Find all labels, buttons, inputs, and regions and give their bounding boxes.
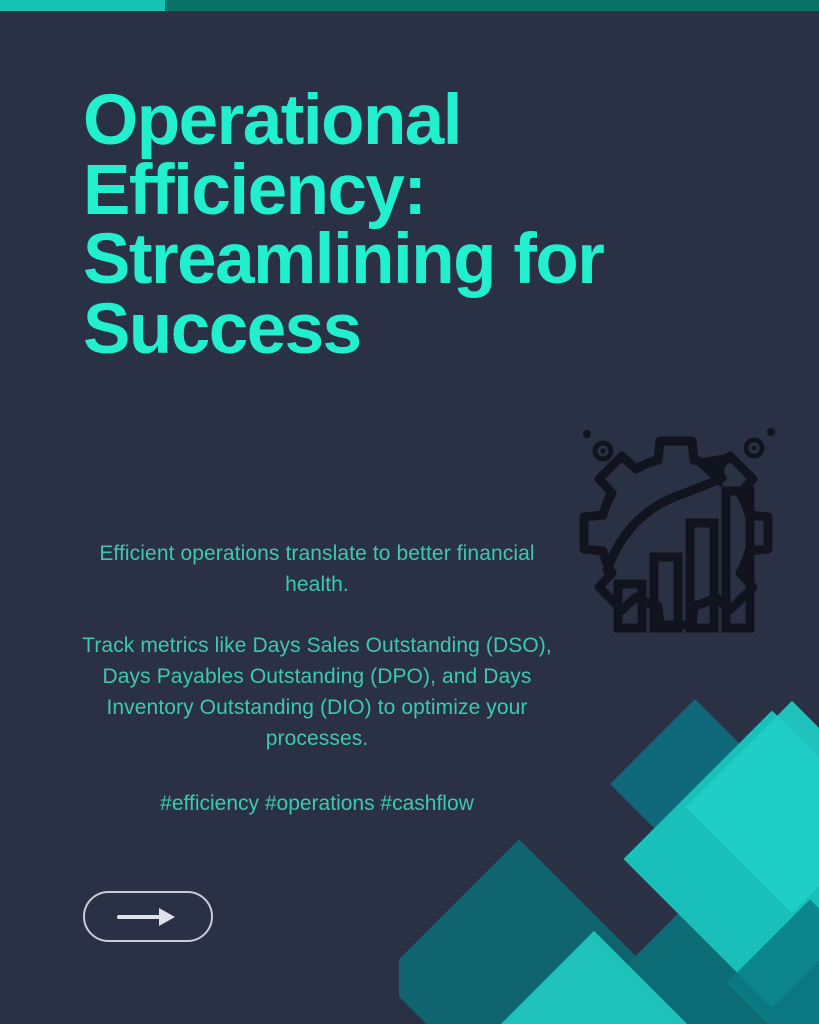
gear-growth-chart-icon bbox=[563, 418, 789, 644]
social-post-card: Operational Efficiency: Streamlining for… bbox=[0, 0, 819, 1024]
hashtags-line: #efficiency #operations #cashflow bbox=[82, 788, 552, 819]
body-paragraph-2: Track metrics like Days Sales Outstandin… bbox=[82, 630, 552, 754]
dot-ring-right-core bbox=[752, 446, 757, 451]
dot-ring-left-core bbox=[601, 449, 606, 454]
next-slide-button[interactable] bbox=[83, 891, 213, 942]
bar-chart-4-bars bbox=[618, 491, 750, 628]
dot-small-left bbox=[583, 430, 591, 438]
body-copy: Efficient operations translate to better… bbox=[82, 538, 552, 820]
arrow-right-icon bbox=[117, 906, 179, 928]
dot-small-right bbox=[767, 428, 775, 436]
body-paragraph-1: Efficient operations translate to better… bbox=[82, 538, 552, 600]
page-title: Operational Efficiency: Streamlining for… bbox=[83, 86, 643, 364]
